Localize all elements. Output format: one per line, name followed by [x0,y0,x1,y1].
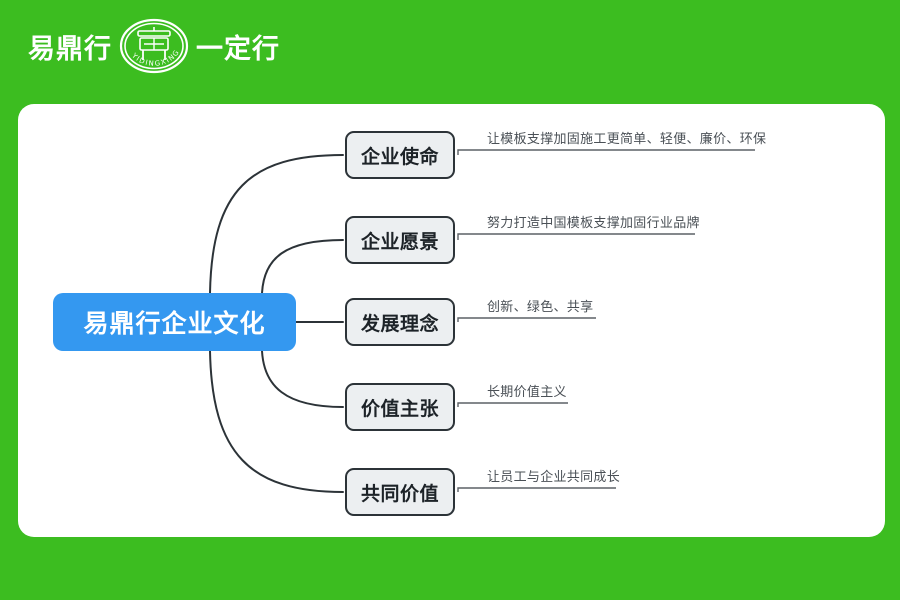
branch-node-label: 企业愿景 [361,227,439,254]
branch-node-label: 价值主张 [361,394,439,421]
root-node[interactable]: 易鼎行企业文化 [53,293,296,351]
branch-description-3: 创新、绿色、共享 [487,301,593,315]
brand-text-left: 易鼎行 [28,36,112,63]
branch-node-label: 发展理念 [361,309,439,336]
branch-node-qiyeshiming[interactable]: 企业使命 [345,131,455,179]
mindmap-page: 易鼎行 YIDINGXING [0,0,900,600]
branch-node-label: 共同价值 [361,479,439,506]
branch-node-label: 企业使命 [361,142,439,169]
yidingxing-seal-logo-icon: YIDINGXING [118,16,190,82]
branch-node-fazhanlinian[interactable]: 发展理念 [345,298,455,346]
branch-description-5: 让员工与企业共同成长 [487,471,620,485]
logo-header: 易鼎行 YIDINGXING [0,0,900,104]
root-node-label: 易鼎行企业文化 [83,304,265,340]
brand-logo[interactable]: 易鼎行 YIDINGXING [28,14,280,84]
branch-description-4: 长期价值主义 [487,386,567,400]
brand-text-right: 一定行 [196,36,280,63]
branch-node-qiyeyuanjing[interactable]: 企业愿景 [345,216,455,264]
branch-node-gongtongjiazhi[interactable]: 共同价值 [345,468,455,516]
branch-node-jiazhizhuzhang[interactable]: 价值主张 [345,383,455,431]
branch-description-1: 让模板支撑加固施工更简单、轻便、廉价、环保 [487,133,766,147]
branch-description-2: 努力打造中国模板支撑加固行业品牌 [487,217,700,231]
